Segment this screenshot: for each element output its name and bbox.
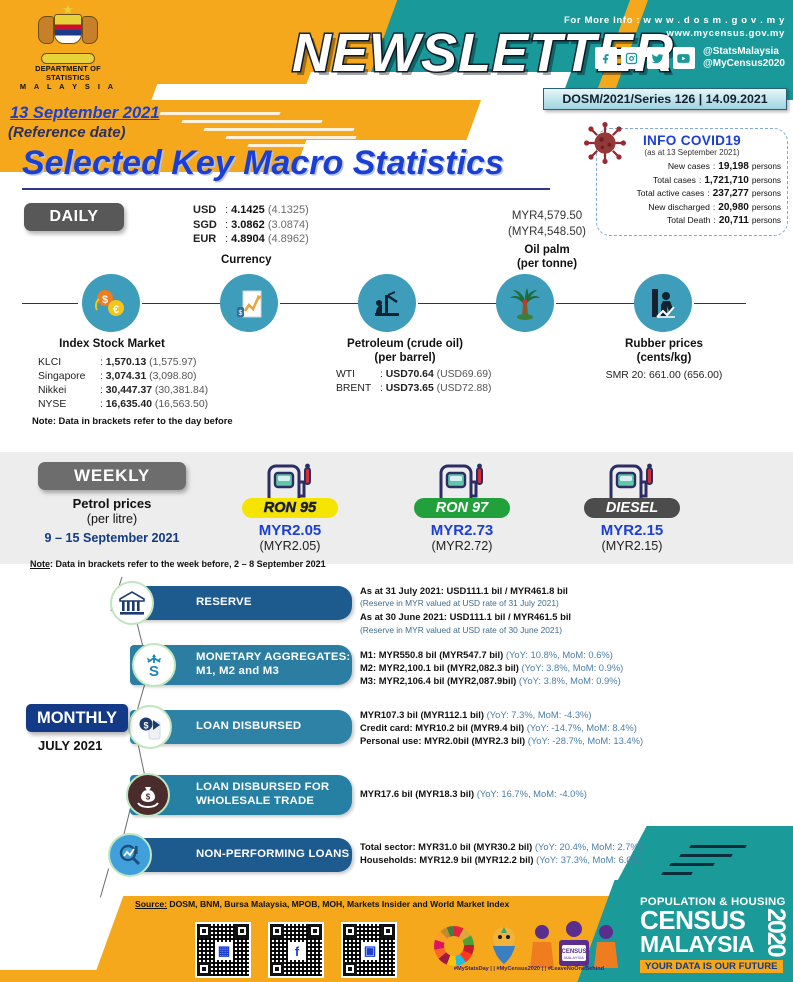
currency-row: USD: 4.1425 (4.1325) [193,203,309,218]
census-tagline: YOUR DATA IS OUR FUTURE [640,960,783,973]
petrol-prices-dates: 9 – 15 September 2021 [26,531,198,545]
daily-connector [280,303,358,304]
stat-prev: (30,381.84) [155,385,208,396]
petroleum-label-line-1: Petroleum (crude oil) [330,337,480,351]
monthly-text-wholesale: MYR17.6 bil (MYR18.3 bil) (YoY: 16.7%, M… [360,787,587,800]
covid-row-unit: persons [752,188,781,201]
census-logo: POPULATION & HOUSING CENSUS MALAYSIA 202… [640,896,790,974]
daily-connector [142,303,220,304]
coronavirus-icon [584,122,626,164]
emblem-line-1: DEPARTMENT OF STATISTICS [14,64,122,82]
stock-market-icon: $ € [82,274,140,332]
fuel-prev-diesel: (MYR2.15) [557,539,707,553]
reserve-line-4: (Reserve in MYR valued at USD rate of 30… [360,624,571,637]
reserve-line-1: As at 31 July 2021: USD111.1 bil / MYR46… [360,585,568,596]
twitter-icon[interactable] [647,47,669,69]
stat-value: USD70.64 [386,369,434,380]
stat-value: 30,447.37 [106,385,152,396]
sdg-wheel-icon [434,926,474,966]
hashtags: #MyStatsDay | | #MyCensus2020 | | #Leave… [424,966,634,972]
series-badge: DOSM/2021/Series 126 | 14.09.2021 [543,88,787,110]
petrol-prices-title: Petrol prices [38,496,186,511]
qr-center-emblem: ▦ [215,942,233,960]
oil-palm-icon [496,274,554,332]
svg-text:$: $ [143,721,148,731]
covid-rows: New cases : 19,198 persons Total cases :… [603,160,781,228]
m2-yoy: (YoY: 3.8%, MoM: 0.9%) [522,662,624,673]
npl-total-yoy: (YoY: 20.4%, MoM: 2.7%) [535,841,642,852]
covid-title: INFO COVID19 [603,133,781,148]
currency-value: 4.8904 [231,233,265,245]
covid-row-label: New cases [668,160,710,173]
svg-text:$: $ [239,310,243,317]
loan-icon: $ [128,705,172,749]
covid-row: New discharged : 20,980 persons [603,201,781,215]
currency-label: Currency [221,254,272,266]
fuel-ron95: RON 95 MYR2.05 (MYR2.05) [215,462,365,553]
monthly-row-reserve[interactable]: RESERVE [130,586,352,620]
reference-date: 13 September 2021 [10,104,160,123]
monthly-text-loan-disbursed: MYR107.3 bil (MYR112.1 bil) (YoY: 7.3%, … [360,708,643,748]
monthly-row-npl[interactable]: NON-PERFORMING LOANS [130,838,352,872]
oilpalm-label-line-1: Oil palm [492,243,602,257]
petroleum-stats: WTI: USD70.64 (USD69.69) BRENT: USD73.65… [336,368,492,396]
stat-prev: (3,098.80) [149,371,196,382]
covid-row-value: 1,721,710 [704,175,749,188]
covid-row-label: Total Death [667,214,710,227]
covid-row: Total active cases : 237,277 persons [603,187,781,201]
petrol-prices-subtitle: (per litre) [38,512,186,526]
stat-name: NYSE [38,398,100,412]
npl-household-yoy: (YoY: 37.3%, MoM: 6.0%) [536,854,643,865]
youtube-icon[interactable] [673,47,695,69]
reference-date-label: (Reference date) [8,124,126,141]
facebook-icon[interactable] [595,47,617,69]
stat-value: 1,570.13 [106,357,146,368]
currency-row: SGD: 3.0862 (3.0874) [193,218,309,233]
oilpalm-value: MYR4,579.50 [497,210,597,222]
wholesale-text: MYR17.6 bil (MYR18.3 bil) [360,788,477,799]
fuel-ron97: RON 97 MYR2.73 (MYR2.72) [387,462,537,553]
covid-row-unit: persons [752,161,781,174]
stat-row: KLCI: 1,570.13 (1,575.97) [38,356,208,370]
source-text: DOSM, BNM, Bursa Malaysia, MPOB, MOH, Ma… [167,899,509,909]
rubber-label-line-2: (cents/kg) [590,351,738,365]
covid-row-value: 237,277 [713,188,749,201]
m3-yoy: (YoY: 3.8%, MoM: 0.9%) [519,675,621,686]
currency-prev: (3.0874) [268,219,309,231]
stat-value: USD73.65 [386,383,434,394]
stat-prev: (16,563.50) [155,399,208,410]
title-divider [22,188,550,190]
daily-note: Note: Data in brackets refer to the day … [32,415,233,426]
instagram-icon[interactable] [621,47,643,69]
fuel-price-ron97: MYR2.73 [387,522,537,539]
stat-prev: (USD69.69) [437,369,492,380]
money-bag-icon: $ [126,773,170,817]
census-year: 2020 [764,908,788,956]
page-title: Selected Key Macro Statistics [22,144,504,183]
fuel-prev-ron95: (MYR2.05) [215,539,365,553]
svg-text:S: S [149,663,159,680]
census-mascot-icon [484,924,524,968]
loan-total-text: MYR107.3 bil (MYR112.1 bil) [360,709,487,720]
npl-total-text: Total sector: MYR31.0 bil (MYR30.2 bil) [360,841,535,852]
npl-icon [108,833,152,877]
rubber-stats: SMR 20: 661.00 (656.00) [590,369,738,383]
census-people-icon: CENSUS MALAYSIA [528,920,620,970]
source-note: Source: DOSM, BNM, Bursa Malaysia, MPOB,… [135,899,509,909]
daily-connector [556,303,634,304]
covid-row: New cases : 19,198 persons [603,160,781,174]
stat-name: Singapore [38,370,100,384]
monthly-period: JULY 2021 [38,738,102,753]
dosm-emblem: ★ DEPARTMENT OF STATISTICS M A L A Y S I… [14,6,122,94]
fuel-price-diesel: MYR2.15 [557,522,707,539]
stat-name: KLCI [38,356,100,370]
source-label: Source: [135,899,167,909]
oilpalm-label-line-2: (per tonne) [492,257,602,271]
stat-prev: (1,575.97) [149,357,196,368]
currency-value: 4.1425 [231,204,265,216]
petroleum-label: Petroleum (crude oil) (per barrel) [330,337,480,365]
covid-row-label: New discharged [648,201,710,214]
stat-row: Nikkei: 30,447.37 (30,381.84) [38,384,208,398]
oilpalm-label: Oil palm (per tonne) [492,243,602,271]
currency-chart-icon: $ [220,274,278,332]
m1-text: M1: MYR550.8 bil (MYR547.7 bil) [360,649,506,660]
header-white-wedge-2 [143,84,488,100]
bank-icon [110,581,154,625]
fuel-prev-ron97: (MYR2.72) [387,539,537,553]
currency-value: 3.0862 [231,219,265,231]
header-info: For More Info : w w w . d o s m . g o v … [564,14,785,40]
currency-code: EUR [193,232,225,247]
emblem-line-2: M A L A Y S I A [14,82,122,91]
currency-values: USD: 4.1425 (4.1325) SGD: 3.0862 (3.0874… [193,203,309,247]
stat-row: Singapore: 3,074.31 (3,098.80) [38,370,208,384]
npl-household-text: Households: MYR12.9 bil (MYR12.2 bil) [360,854,536,865]
money-supply-icon: S [132,643,176,687]
covid-subtitle: (as at 13 September 2021) [603,148,781,157]
covid-row-unit: persons [752,215,781,228]
loan-credit-text: Credit card: MYR10.2 bil (MYR9.4 bil) [360,722,527,733]
fuel-badge-diesel: DIESEL [584,498,680,518]
weekly-note-prefix: Note [30,559,50,569]
stat-row: NYSE: 16,635.40 (16,563.50) [38,398,208,412]
monthly-row-label: NON-PERFORMING LOANS [130,848,349,862]
page-header: ★ DEPARTMENT OF STATISTICS M A L A Y S I… [0,0,793,100]
qr-code-census[interactable]: ▣ [341,922,397,978]
covid-row-label: Total cases [653,174,696,187]
petroleum-label-line-2: (per barrel) [330,351,480,365]
stat-name: WTI [336,368,380,382]
stat-value: 3,074.31 [106,371,146,382]
fuel-diesel: DIESEL MYR2.15 (MYR2.15) [557,462,707,553]
stat-name: BRENT [336,382,380,396]
loan-personal-yoy: (YoY: -28.7%, MoM: 13.4%) [528,735,643,746]
social-handle-2: @MyCensus2020 [703,58,785,70]
svg-text:MALAYSIA: MALAYSIA [564,955,584,960]
daily-section-pill: DAILY [24,203,124,231]
loan-total-yoy: (YoY: 7.3%, MoM: -4.3%) [487,709,592,720]
stock-market-label: Index Stock Market [36,337,188,351]
covid-row-label: Total active cases [636,187,704,200]
stat-row: BRENT: USD73.65 (USD72.88) [336,382,492,396]
svg-text:$: $ [102,294,108,306]
oilpalm-prev: (MYR4,548.50) [497,226,597,238]
monthly-text-reserve: As at 31 July 2021: USD111.1 bil / MYR46… [360,584,571,637]
covid-row-value: 20,711 [719,215,749,228]
wholesale-yoy: (YoY: 16.7%, MoM: -4.0%) [477,788,587,799]
malaysia-coat-of-arms-icon: ★ [37,6,99,62]
currency-row: EUR: 4.8904 (4.8962) [193,232,309,247]
rubber-label: Rubber prices (cents/kg) [590,337,738,365]
currency-prev: (4.1325) [268,204,309,216]
rubber-prices-icon [634,274,692,332]
header-info-line-1: For More Info : w w w . d o s m . g o v … [564,14,785,27]
weekly-note-text: : Data in brackets refer to the week bef… [50,559,326,569]
social-row: @StatsMalaysia @MyCensus2020 [595,46,785,70]
svg-text:€: € [113,304,119,316]
qr-center-emblem: ▣ [361,942,379,960]
monthly-text-npl: Total sector: MYR31.0 bil (MYR30.2 bil) … [360,840,643,866]
daily-connector [418,303,496,304]
fuel-badge-ron95: RON 95 [242,498,338,518]
m2-text: M2: MYR2,100.1 bil (MYR2,082.3 bil) [360,662,522,673]
petroleum-icon [358,274,416,332]
covid-row-unit: persons [752,175,781,188]
weekly-section-pill: WEEKLY [38,462,186,490]
qr-code-facebook[interactable]: f [268,922,324,978]
qr-center-facebook-icon: f [288,942,306,960]
m1-yoy: (YoY: 10.8%, MoM: 0.6%) [506,649,613,660]
covid-row: Total cases : 1,721,710 persons [603,174,781,188]
daily-connector [694,303,746,304]
covid-row-value: 19,198 [718,161,749,174]
social-handle-1: @StatsMalaysia [703,46,785,58]
reserve-line-2: (Reserve in MYR valued at USD rate of 31… [360,597,571,610]
stat-prev: (USD72.88) [437,383,492,394]
monthly-section-pill: MONTHLY [26,704,128,732]
covid-row-unit: persons [752,202,781,215]
fuel-price-ron95: MYR2.05 [215,522,365,539]
qr-code-dosm[interactable]: ▦ [195,922,251,978]
m3-text: M3: MYR2,106.4 bil (MYR2,087.9bil) [360,675,519,686]
weekly-note: Note: Data in brackets refer to the week… [30,559,326,569]
reserve-line-3: As at 30 June 2021: USD111.1 bil / MYR46… [360,611,571,622]
loan-personal-text: Personal use: MYR2.0bil (MYR2.3 bil) [360,735,528,746]
stat-value: 16,635.40 [106,399,152,410]
covid-row: Total Death : 20,711 persons [603,214,781,228]
covid-row-value: 20,980 [718,202,749,215]
monthly-text-monetary: M1: MYR550.8 bil (MYR547.7 bil) (YoY: 10… [360,648,623,688]
fuel-badge-ron97: RON 97 [414,498,510,518]
rubber-label-line-1: Rubber prices [590,337,738,351]
svg-text:$: $ [146,793,151,802]
stat-name: Nikkei [38,384,100,398]
currency-code: USD [193,203,225,218]
currency-prev: (4.8962) [268,233,309,245]
loan-credit-yoy: (YoY: -14.7%, MoM: 8.4%) [527,722,637,733]
header-info-line-2: www.mycensus.gov.my [564,27,785,40]
stat-row: WTI: USD70.64 (USD69.69) [336,368,492,382]
stock-market-stats: KLCI: 1,570.13 (1,575.97) Singapore: 3,0… [38,356,208,412]
daily-connector [22,303,78,304]
currency-code: SGD [193,218,225,233]
